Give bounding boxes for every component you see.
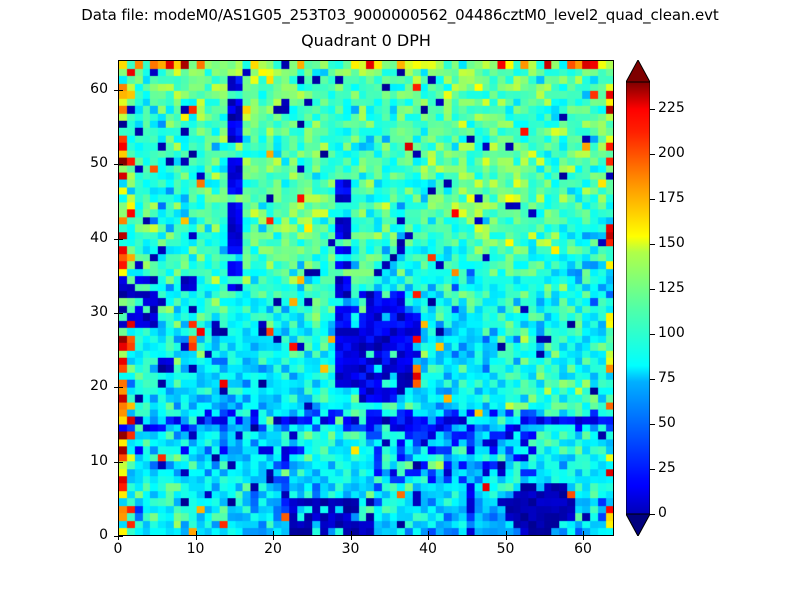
heatmap-image [119,61,613,535]
y-tick-inner [119,164,123,165]
y-tick-inner [119,239,123,240]
x-tick-label: 20 [253,541,293,557]
x-tick-inner [118,531,119,535]
x-tick-label: 0 [98,541,138,557]
x-tick-inner [273,531,274,535]
colorbar-tick [650,109,655,110]
colorbar-tick-label: 100 [658,325,685,341]
x-tick [583,536,584,540]
x-tick-label: 50 [486,541,526,557]
x-tick [196,536,197,540]
colorbar-tick [650,334,655,335]
y-tick-inner [119,90,123,91]
colorbar-tick [650,379,655,380]
colorbar-tick [650,154,655,155]
y-tick-label: 0 [68,527,108,543]
colorbar[interactable] [626,60,650,536]
y-tick [114,239,118,240]
y-tick [114,462,118,463]
y-tick [114,387,118,388]
colorbar-tick-label: 0 [658,505,667,521]
colorbar-tick-label: 200 [658,145,685,161]
x-tick [273,536,274,540]
y-tick [114,90,118,91]
x-tick [428,536,429,540]
colorbar-tick-label: 150 [658,235,685,251]
y-tick [114,536,118,537]
heatmap-axes[interactable] [118,60,614,536]
x-tick-label: 60 [563,541,603,557]
colorbar-tick [650,199,655,200]
x-tick-label: 30 [331,541,371,557]
figure-canvas: Data file: modeM0/AS1G05_253T03_90000005… [0,0,800,600]
x-tick [506,536,507,540]
y-tick-inner [119,313,123,314]
x-tick [351,536,352,540]
x-tick-inner [196,531,197,535]
colorbar-tick [650,424,655,425]
colorbar-tick-label: 125 [658,280,685,296]
x-tick-inner [351,531,352,535]
colorbar-tick [650,469,655,470]
colorbar-tick-label: 225 [658,100,685,116]
y-tick-inner [119,387,123,388]
x-tick-inner [506,531,507,535]
y-tick-label: 10 [68,453,108,469]
colorbar-tick-label: 25 [658,460,676,476]
y-tick-label: 40 [68,230,108,246]
colorbar-tick [650,514,655,515]
y-tick-label: 20 [68,378,108,394]
x-tick-inner [583,531,584,535]
y-tick-label: 60 [68,81,108,97]
y-tick [114,164,118,165]
y-tick-inner [119,462,123,463]
x-tick-label: 40 [408,541,448,557]
colorbar-tick [650,289,655,290]
figure-suptitle: Data file: modeM0/AS1G05_253T03_90000005… [0,6,800,24]
colorbar-tick-label: 175 [658,190,685,206]
colorbar-tick-label: 75 [658,370,676,386]
y-tick-inner [119,536,123,537]
x-tick-label: 10 [176,541,216,557]
axes-title: Quadrant 0 DPH [118,31,614,50]
x-tick-inner [428,531,429,535]
colorbar-tick [650,244,655,245]
colorbar-gradient [626,60,650,536]
y-tick [114,313,118,314]
y-tick-label: 30 [68,304,108,320]
colorbar-tick-label: 50 [658,415,676,431]
y-tick-label: 50 [68,155,108,171]
